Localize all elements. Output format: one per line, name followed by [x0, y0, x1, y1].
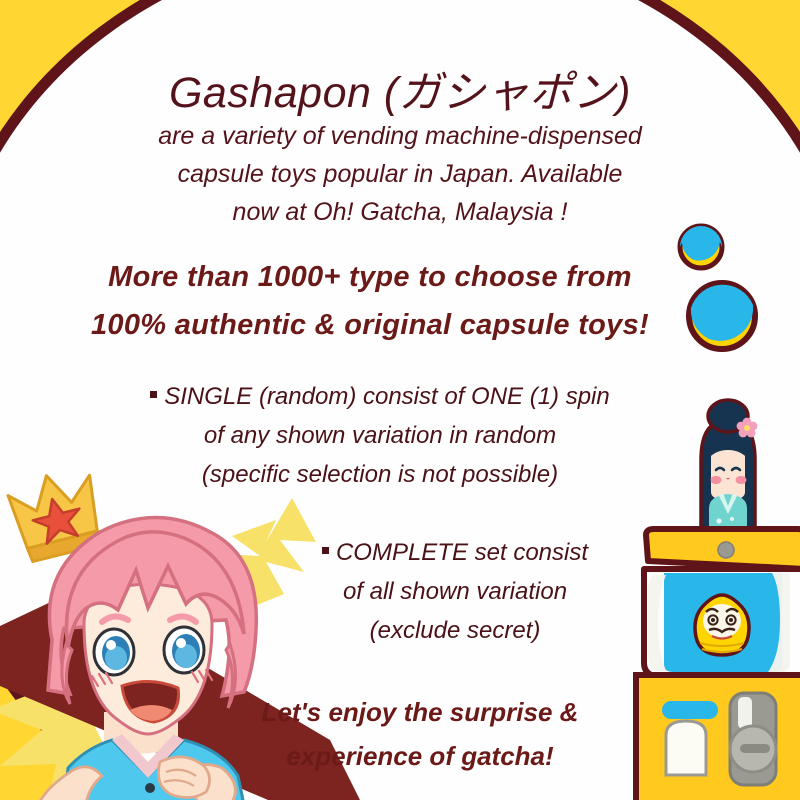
headline-line-1: More than 1000+ type to choose from [30, 253, 710, 301]
intro-line-2: capsule toys popular in Japan. Available [100, 155, 700, 193]
headline-block: More than 1000+ type to choose from 100%… [30, 253, 710, 349]
bullet-square-icon [150, 391, 157, 398]
intro-line-1: are a variety of vending machine-dispens… [100, 117, 700, 155]
single-option-block: SINGLE (random) consist of ONE (1) spin … [120, 377, 640, 494]
intro-line-3: now at Oh! Gatcha, Malaysia ! [100, 193, 700, 231]
kokeshi-doll [663, 388, 793, 548]
single-line-3: (specific selection is not possible) [120, 455, 640, 494]
bullet-square-icon [322, 547, 329, 554]
page-title: Gashapon (ガシャポン) [0, 58, 800, 120]
single-line-1-text: SINGLE (random) consist of ONE (1) spin [164, 383, 609, 410]
intro-paragraph: are a variety of vending machine-dispens… [100, 117, 700, 231]
complete-line-1-text: COMPLETE set consist [336, 539, 588, 566]
single-line-1: SINGLE (random) consist of ONE (1) spin [120, 377, 640, 416]
gashapon-promo-poster: Gashapon (ガシャポン) are a variety of vendin… [0, 0, 800, 800]
headline-line-2: 100% authentic & original capsule toys! [30, 301, 710, 349]
single-line-2: of any shown variation in random [120, 416, 640, 455]
excited-girl-character [8, 500, 318, 800]
